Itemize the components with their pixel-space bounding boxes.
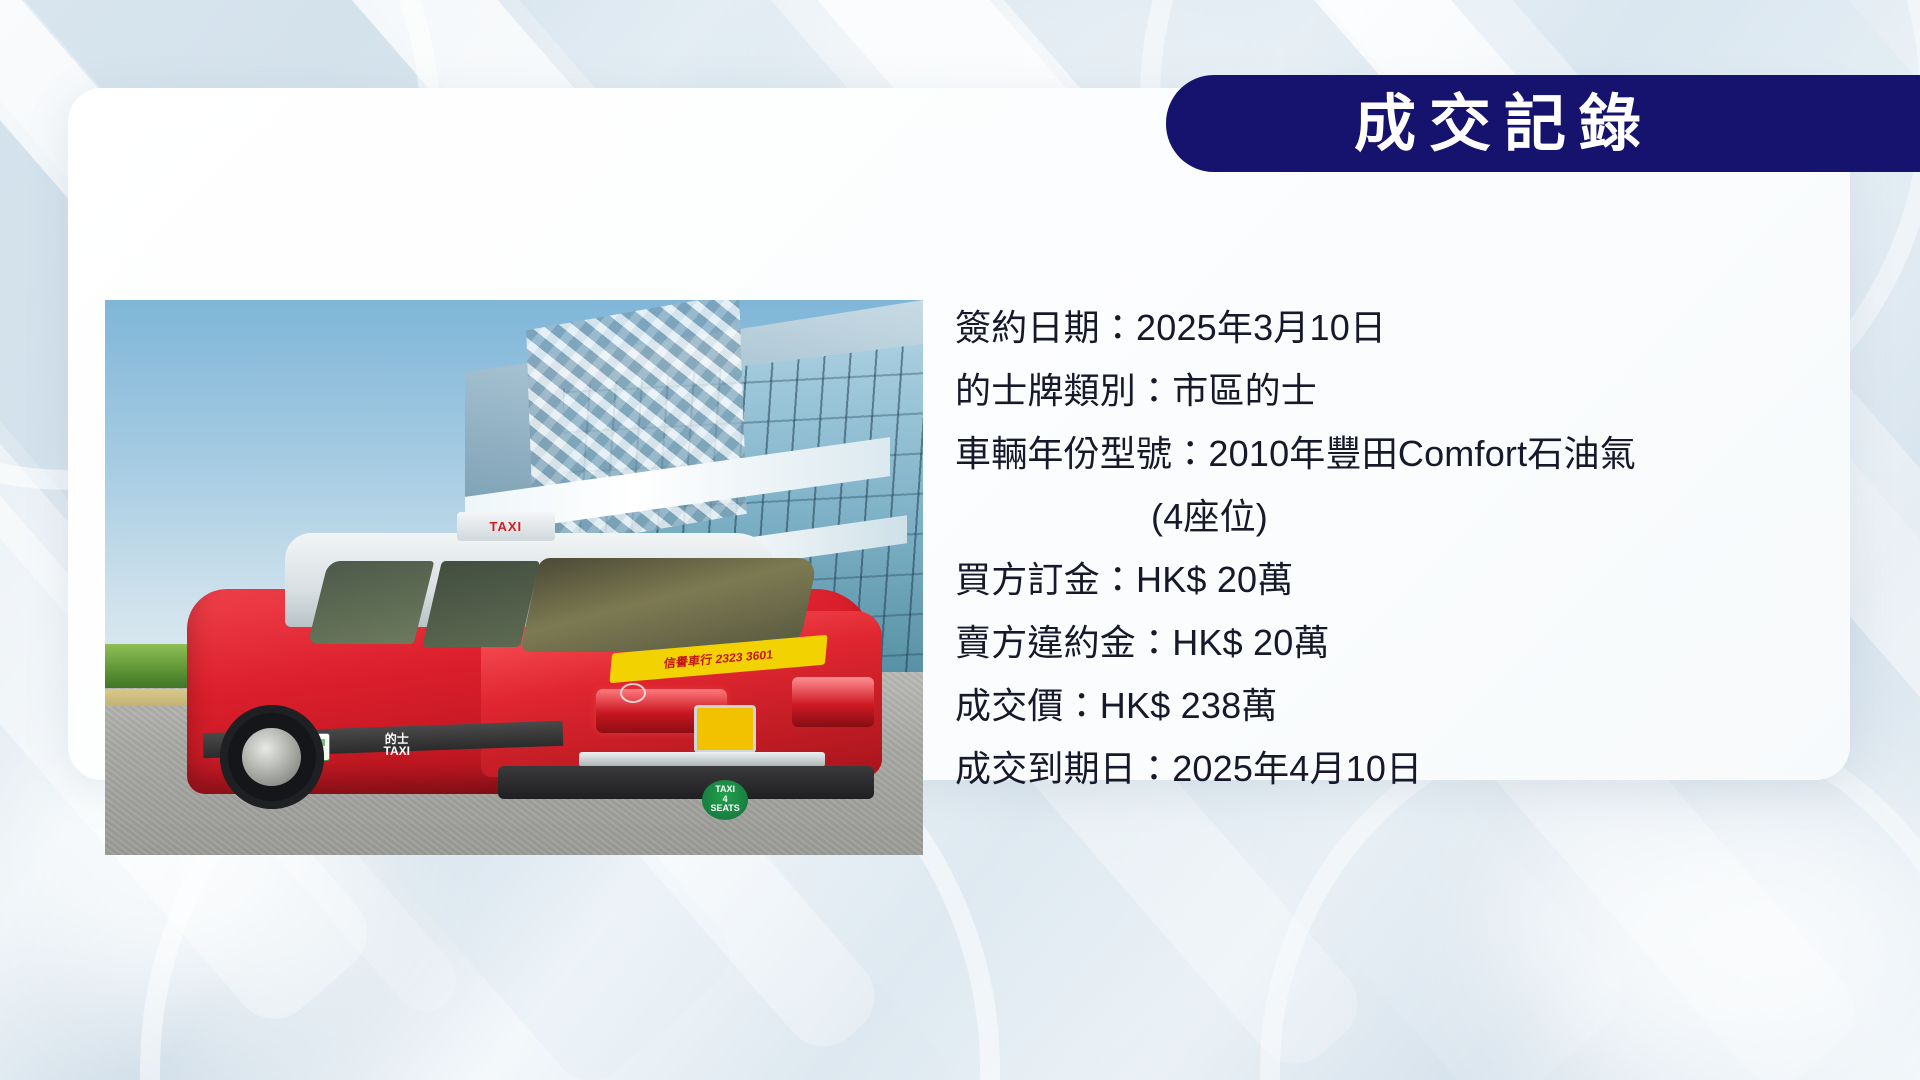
taxi-roof-sign: TAXI: [457, 512, 555, 541]
taxi-side-label: 的士 TAXI: [367, 733, 427, 771]
taxi-taillight: [792, 677, 874, 727]
detail-line-transaction-price: 成交價：HK$ 238萬: [955, 674, 1835, 737]
transaction-details: 簽約日期：2025年3月10日 的士牌類別：市區的士 車輛年份型號：2010年豐…: [955, 296, 1835, 800]
taxi-chrome-trim: [579, 752, 824, 766]
taxi-rear-window: [520, 558, 818, 652]
taxi-side-label-en: TAXI: [367, 745, 427, 758]
detail-line-signing-date: 簽約日期：2025年3月10日: [955, 296, 1835, 359]
detail-line-seat-count: (4座位): [955, 485, 1835, 548]
detail-line-completion-date: 成交到期日：2025年4月10日: [955, 737, 1835, 800]
taxi-side-window: [422, 561, 540, 647]
page-title: 成交記錄: [1354, 93, 1654, 155]
taxi-bumper: [498, 766, 874, 799]
title-banner: 成交記錄: [1166, 75, 1920, 172]
taxi-photo: TAXI 信譽車行 2323 3601 的士 TAXI TAXI 4 SEATS: [105, 300, 923, 855]
detail-line-licence-type: 的士牌類別：市區的士: [955, 359, 1835, 422]
taxi-wheel-rim: [242, 728, 300, 786]
detail-line-buyer-deposit: 買方訂金：HK$ 20萬: [955, 548, 1835, 611]
detail-line-vehicle-model: 車輛年份型號：2010年豐田Comfort石油氣: [955, 422, 1835, 485]
taxi-wheel: [220, 705, 324, 809]
licence-plate: [694, 705, 756, 753]
taxi-side-window: [307, 561, 434, 644]
seats-badge-bottom: SEATS: [702, 804, 748, 813]
windscreen-banner-label: 信譽車行 2323 3601: [663, 646, 774, 672]
detail-line-seller-penalty: 賣方違約金：HK$ 20萬: [955, 611, 1835, 674]
poster-stage: 成交記錄 TAXI 信譽車行 2323 3601 的士 TAXI: [0, 0, 1920, 1080]
taxi-roof-sign-label: TAXI: [489, 519, 522, 534]
background-glow: [1500, 780, 1920, 1080]
seats-badge: TAXI 4 SEATS: [702, 780, 748, 820]
